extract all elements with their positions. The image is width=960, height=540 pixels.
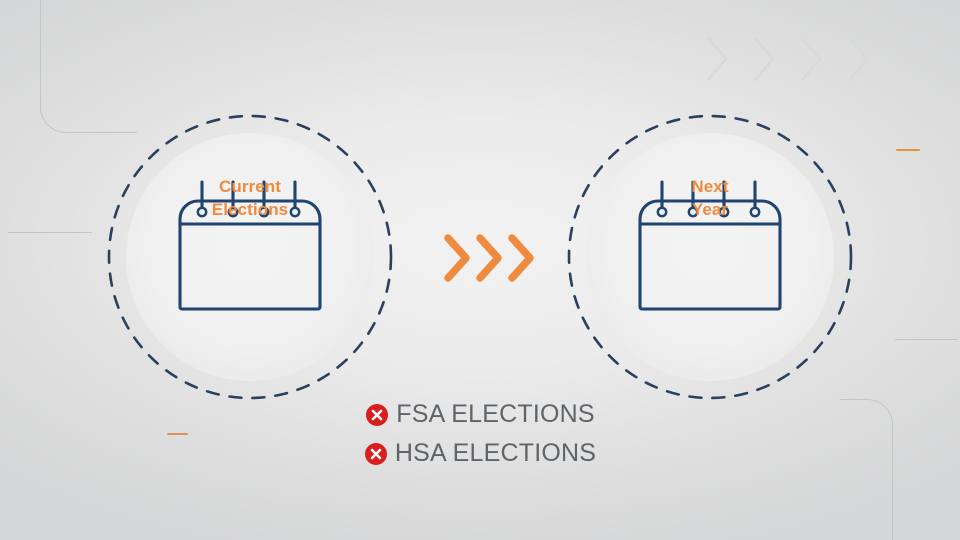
decorative-chevron-group — [706, 36, 926, 88]
accent-line-right — [895, 339, 957, 340]
chevron-right-icon — [847, 36, 871, 82]
node-current-elections: CurrentElections — [100, 107, 400, 407]
legend-list: FSA ELECTIONS HSA ELECTIONS — [0, 400, 960, 468]
circle-x-icon — [365, 403, 389, 427]
legend-label: HSA ELECTIONS — [395, 439, 596, 468]
node-next-year: NextYear — [560, 107, 860, 407]
chevron-right-icon — [507, 233, 535, 283]
chevron-right-icon — [800, 36, 824, 82]
slide-canvas: CurrentElections — [0, 0, 960, 540]
transition-arrows — [443, 232, 543, 284]
legend-label: FSA ELECTIONS — [396, 400, 595, 429]
orange-dash-right — [896, 149, 920, 151]
circle-x-icon — [364, 442, 388, 466]
list-item: FSA ELECTIONS — [365, 400, 595, 429]
node-label-line2: Elections — [212, 200, 288, 219]
node-label: NextYear — [560, 175, 860, 221]
node-label: CurrentElections — [100, 175, 400, 221]
chevron-right-icon — [753, 36, 777, 82]
node-label-line1: Next — [691, 177, 728, 196]
node-label-line1: Current — [219, 177, 281, 196]
chevron-right-icon — [475, 233, 503, 283]
list-item: HSA ELECTIONS — [364, 439, 596, 468]
node-label-line2: Year — [692, 200, 728, 219]
chevron-right-icon — [443, 233, 471, 283]
chevron-right-icon — [706, 36, 730, 82]
accent-line-left — [8, 232, 92, 233]
